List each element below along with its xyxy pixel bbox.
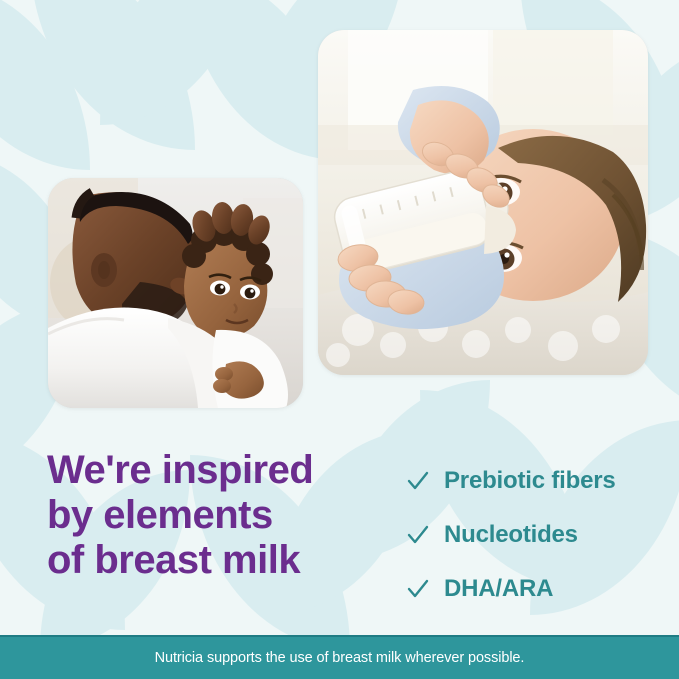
headline-line-2: by elements bbox=[47, 493, 392, 538]
headline-line-1: We're inspired bbox=[47, 448, 392, 493]
headline: We're inspired by elements of breast mil… bbox=[47, 448, 392, 582]
leaf-shape bbox=[100, 0, 250, 125]
leaf-shape bbox=[0, 0, 90, 170]
footer-disclaimer: Nutricia supports the use of breast milk… bbox=[155, 650, 525, 666]
check-icon bbox=[406, 577, 430, 601]
photo-baby-bottle-image bbox=[318, 30, 648, 375]
photo-baby-bottle bbox=[318, 30, 648, 375]
headline-line-3: of breast milk bbox=[47, 538, 392, 583]
marketing-banner: We're inspired by elements of breast mil… bbox=[0, 0, 679, 679]
benefit-item: DHA/ARA bbox=[406, 563, 656, 615]
footer-bar: Nutricia supports the use of breast milk… bbox=[0, 635, 679, 679]
leaf-shape bbox=[30, 0, 195, 150]
benefit-label: DHA/ARA bbox=[444, 575, 553, 603]
benefit-label: Prebiotic fibers bbox=[444, 467, 616, 495]
benefits-list: Prebiotic fibers Nucleotides DHA/ARA bbox=[406, 455, 656, 617]
benefit-item: Prebiotic fibers bbox=[406, 455, 656, 507]
photo-father-baby bbox=[48, 178, 303, 408]
benefit-item: Nucleotides bbox=[406, 509, 656, 561]
check-icon bbox=[406, 523, 430, 547]
photo-father-baby-image bbox=[48, 178, 303, 408]
benefit-label: Nucleotides bbox=[444, 521, 578, 549]
leaf-shape bbox=[185, 0, 340, 160]
check-icon bbox=[406, 469, 430, 493]
